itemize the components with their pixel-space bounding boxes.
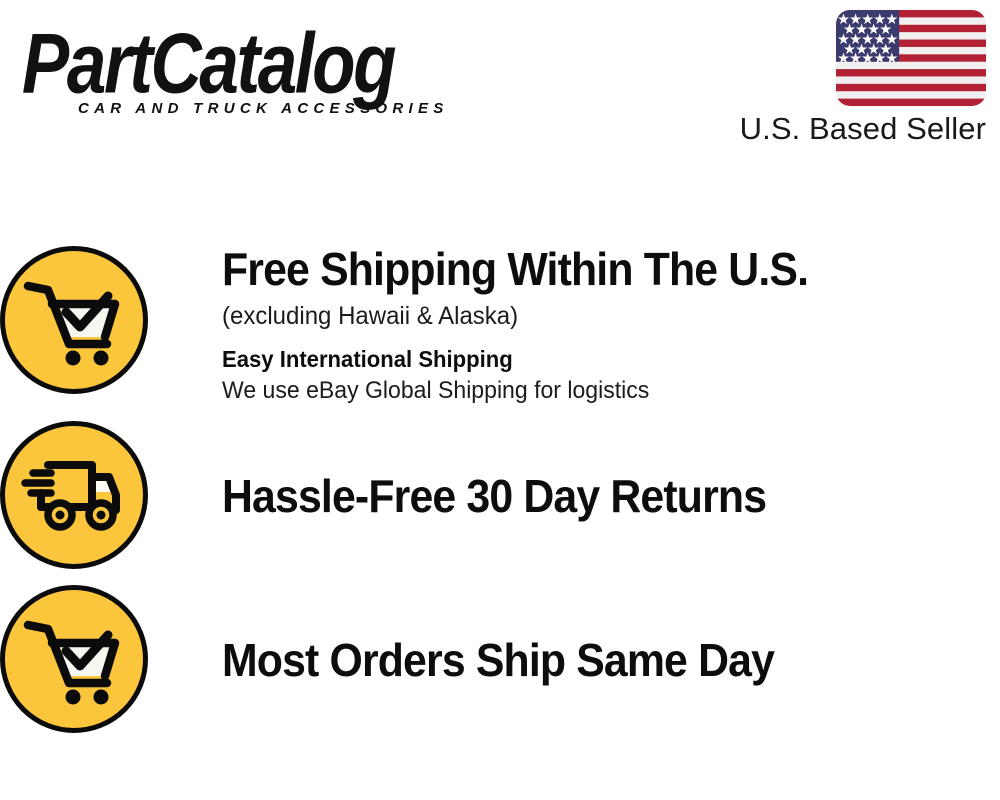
feature-text-block: Hassle-Free 30 Day Returns — [148, 471, 1000, 519]
svg-text:CAR AND TRUCK ACCESSORIES: CAR AND TRUCK ACCESSORIES — [78, 100, 449, 117]
delivery-truck-icon — [0, 421, 148, 569]
feature-secondary-title: Easy International Shipping — [222, 346, 969, 373]
us-based-seller-block: U.S. Based Seller — [686, 10, 986, 146]
feature-title: Hassle-Free 30 Day Returns — [222, 473, 946, 519]
feature-text-block: Free Shipping Within The U.S. (excluding… — [148, 246, 1000, 405]
page-header: PartCatalog CAR AND TRUCK ACCESSORIES — [0, 0, 1000, 175]
shopping-cart-check-icon — [0, 585, 148, 733]
feature-title: Free Shipping Within The U.S. — [222, 246, 946, 292]
svg-text:PartCatalog: PartCatalog — [22, 22, 396, 111]
feature-subtitle: (excluding Hawaii & Alaska) — [222, 302, 969, 332]
shopping-cart-check-icon — [0, 246, 148, 394]
feature-text-block: Most Orders Ship Same Day — [148, 635, 1000, 683]
feature-secondary-subtitle: We use eBay Global Shipping for logistic… — [222, 377, 969, 405]
us-flag-icon — [836, 10, 986, 106]
brand-logo[interactable]: PartCatalog CAR AND TRUCK ACCESSORIES — [20, 22, 490, 117]
feature-title: Most Orders Ship Same Day — [222, 637, 946, 683]
feature-badge — [0, 421, 148, 569]
feature-row-same-day-ship: Most Orders Ship Same Day — [0, 585, 1000, 733]
us-based-seller-label: U.S. Based Seller — [686, 113, 986, 146]
feature-row-returns: Hassle-Free 30 Day Returns — [0, 421, 1000, 569]
features-list: Free Shipping Within The U.S. (excluding… — [0, 246, 1000, 733]
feature-badge — [0, 585, 148, 733]
feature-badge — [0, 246, 148, 394]
feature-row-free-shipping: Free Shipping Within The U.S. (excluding… — [0, 246, 1000, 405]
